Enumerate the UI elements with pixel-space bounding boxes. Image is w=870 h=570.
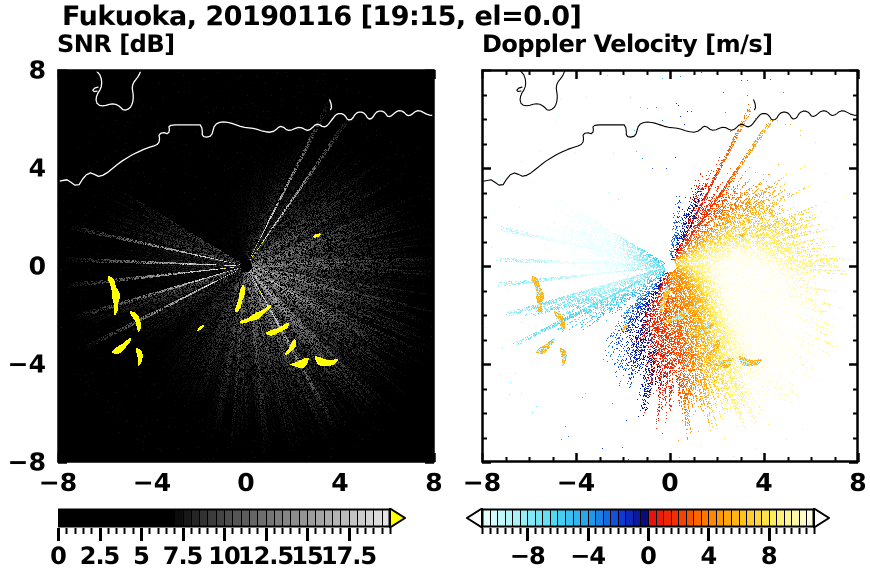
doppler-cbar-label: 0 — [640, 542, 656, 570]
doppler-xaxis-label: −4 — [557, 468, 595, 497]
snr-yaxis-label: 8 — [29, 56, 46, 85]
radar-figure: Fukuoka, 20190116 [19:15, el=0.0] SNR [d… — [0, 0, 870, 570]
snr-cbar-label: 15 — [291, 542, 322, 570]
doppler-plot-area[interactable] — [482, 70, 858, 462]
doppler-cbar-label: −4 — [570, 542, 605, 570]
snr-xaxis-label: 8 — [425, 468, 442, 497]
doppler-panel-title: Doppler Velocity [m/s] — [482, 30, 773, 58]
page-title: Fukuoka, 20190116 [19:15, el=0.0] — [62, 1, 581, 32]
snr-cbar-label: 7.5 — [163, 542, 203, 570]
snr-cbar-label: 17.5 — [321, 542, 376, 570]
snr-cbar-label: 12.5 — [238, 542, 293, 570]
snr-plot-area[interactable] — [58, 70, 434, 462]
snr-cbar-label: 0 — [50, 542, 66, 570]
doppler-cbar-label: 8 — [761, 542, 777, 570]
doppler-colorbar[interactable] — [466, 508, 830, 528]
snr-xaxis-label: 0 — [237, 468, 254, 497]
doppler-xaxis-label: 4 — [755, 468, 772, 497]
snr-panel-title: SNR [dB] — [57, 30, 175, 58]
snr-yaxis-label: −4 — [8, 350, 46, 379]
snr-xaxis-label: 4 — [331, 468, 348, 497]
snr-yaxis-label: −8 — [8, 448, 46, 477]
snr-yaxis-label: 0 — [29, 252, 46, 281]
doppler-xaxis-label: 0 — [661, 468, 678, 497]
snr-colorbar[interactable] — [58, 508, 406, 528]
snr-cbar-label: 10 — [208, 542, 239, 570]
doppler-xaxis-label: 8 — [849, 468, 866, 497]
snr-cbar-label: 2.5 — [80, 542, 120, 570]
snr-yaxis-label: 4 — [29, 154, 46, 183]
doppler-cbar-label: 4 — [701, 542, 717, 570]
snr-xaxis-label: −4 — [133, 468, 171, 497]
doppler-xaxis-label: −8 — [463, 468, 501, 497]
doppler-cbar-label: −8 — [510, 542, 545, 570]
snr-cbar-label: 5 — [133, 542, 149, 570]
